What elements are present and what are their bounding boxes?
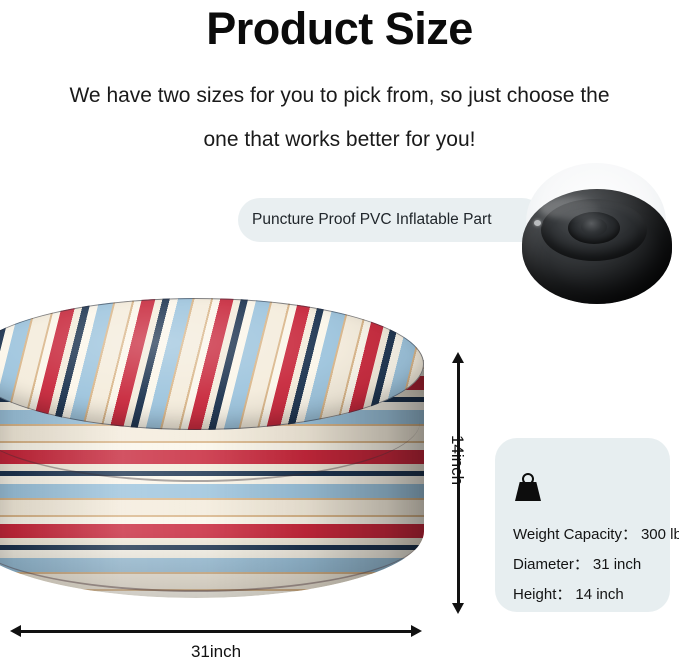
- product-size-infographic: Product Size We have two sizes for you t…: [0, 0, 679, 666]
- subtitle-line-2: one that works better for you!: [0, 126, 679, 154]
- spec-value-weight-capacity: 300 lbs: [641, 526, 679, 543]
- spec-label-weight-capacity: Weight Capacity：: [513, 526, 637, 543]
- spec-label-height: Height：: [513, 586, 571, 603]
- inflatable-valve: [581, 218, 607, 236]
- inflatable-highlight: [539, 197, 599, 219]
- inflatable-part-photo: [513, 163, 679, 308]
- spec-row-height: Height：14 inch: [513, 583, 624, 604]
- callout-label: Puncture Proof PVC Inflatable Part: [252, 198, 542, 242]
- spec-value-diameter: 31 inch: [593, 556, 641, 573]
- spec-row-weight-capacity: Weight Capacity：300 lbs: [513, 523, 679, 544]
- spec-label-diameter: Diameter：: [513, 556, 589, 573]
- height-dimension-label: 14inch: [447, 435, 467, 485]
- width-dimension-arrow: [10, 625, 422, 637]
- subtitle-line-1: We have two sizes for you to pick from, …: [0, 82, 679, 110]
- width-arrow-line: [18, 630, 414, 633]
- arrow-head-right-icon: [411, 625, 422, 637]
- inflatable-air-nozzle: [534, 220, 541, 226]
- page-title: Product Size: [0, 2, 679, 56]
- weight-icon: [513, 473, 543, 503]
- arrow-head-down-icon: [452, 603, 464, 614]
- spec-value-height: 14 inch: [575, 586, 623, 603]
- weight-icon-body: [515, 482, 541, 501]
- width-dimension-label: 31inch: [10, 642, 422, 662]
- spec-row-diameter: Diameter：31 inch: [513, 553, 641, 574]
- striped-ottoman: [0, 298, 424, 618]
